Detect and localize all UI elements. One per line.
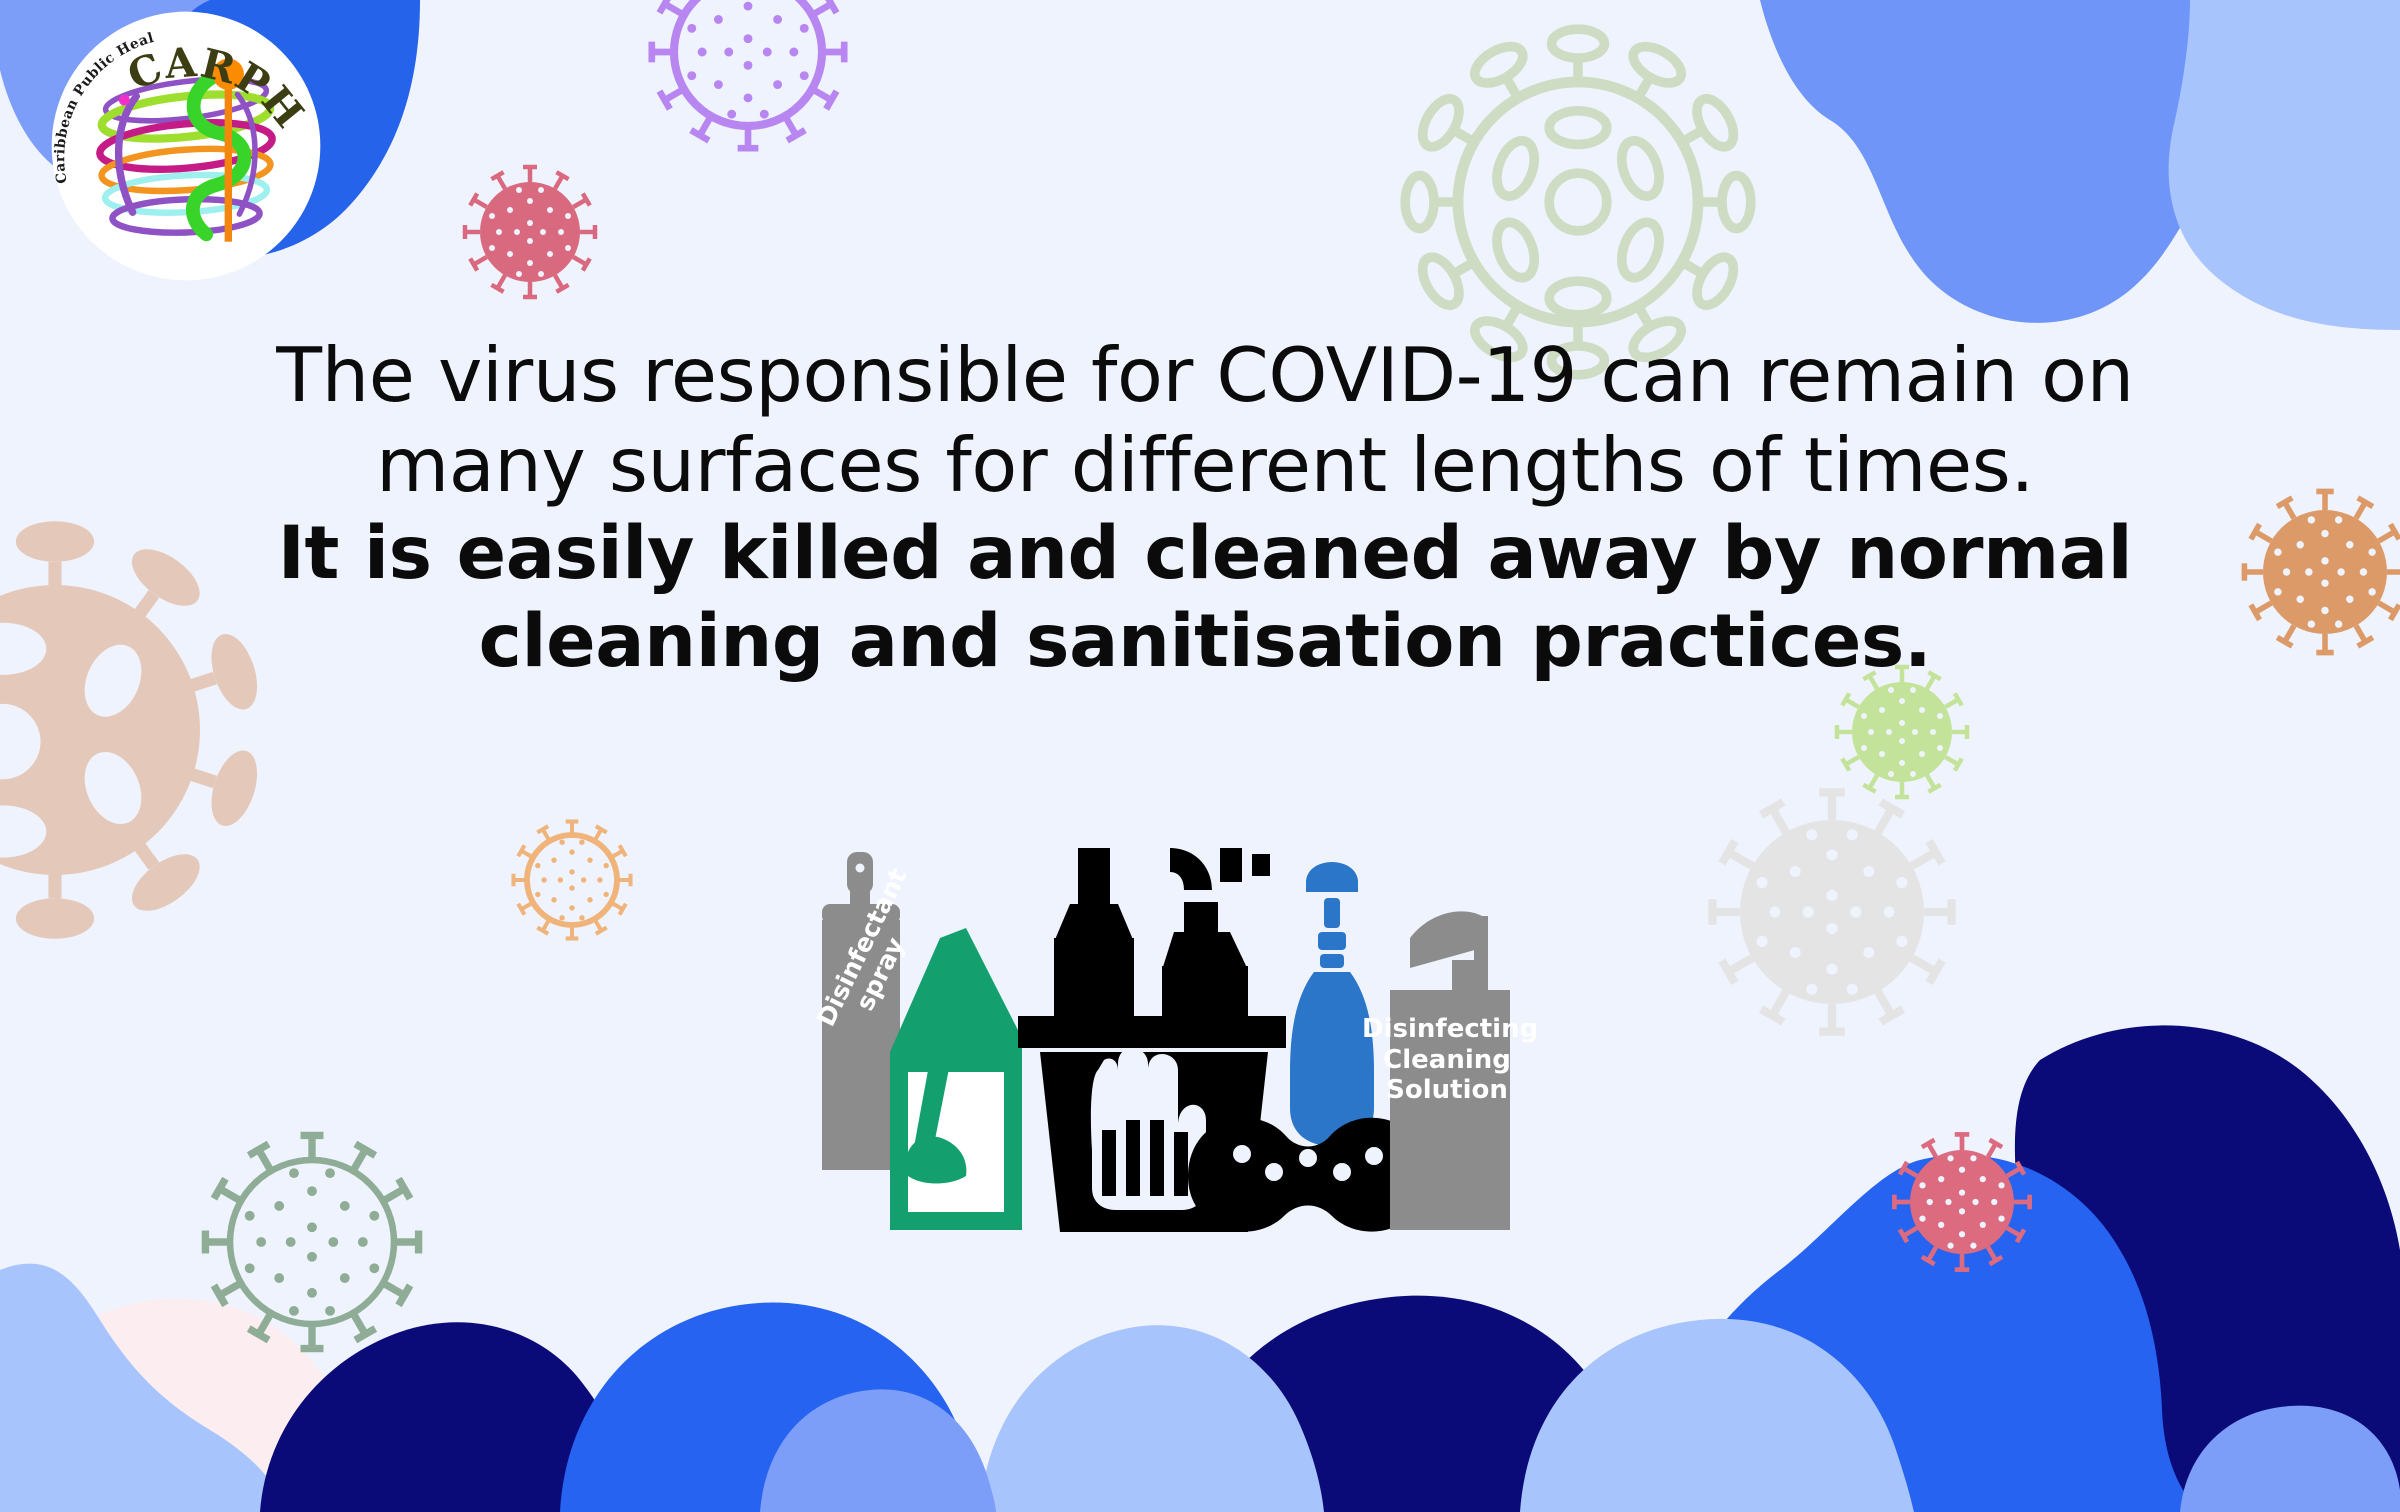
virus-tan-solid [2244,491,2400,652]
virus-sage-outline-small [205,1135,418,1348]
headline-line-3: It is easily killed and cleaned away by … [200,510,2210,598]
virus-lightgreen-solid [1837,667,1967,797]
virus-rose-solid [465,167,595,297]
headline-line-2: many surfaces for different lengths of t… [200,420,2210,510]
virus-rose-solid-small [1894,1134,2029,1269]
disinfecting-cleaning-solution-bottle-icon [1390,911,1510,1230]
poster-canvas: CARPHA Caribbean Public Health Agency Th… [0,0,2400,1512]
blue-detergent-bottle-icon [1290,862,1374,1146]
virus-sage-outline-large [1405,29,1751,375]
virus-orange-outline-small [514,822,631,939]
headline-text: The virus responsible for COVID-19 can r… [200,330,2210,685]
headline-line-1: The virus responsible for COVID-19 can r… [200,330,2210,420]
mop-and-wet-floor-sign-icon [890,928,1022,1230]
virus-decorations [0,0,2400,1512]
virus-purple-outline [652,0,844,148]
disinfectant-spray-can-icon [822,852,900,1170]
cleaning-supplies-illustration: Disinfectant spray Disinfecting Cleaning… [790,820,1530,1250]
carpha-logo: CARPHA Caribbean Public Health Agency [48,8,324,284]
virus-grey-solid [1712,792,1951,1031]
headline-line-4: cleaning and sanitisation practices. [200,598,2210,686]
